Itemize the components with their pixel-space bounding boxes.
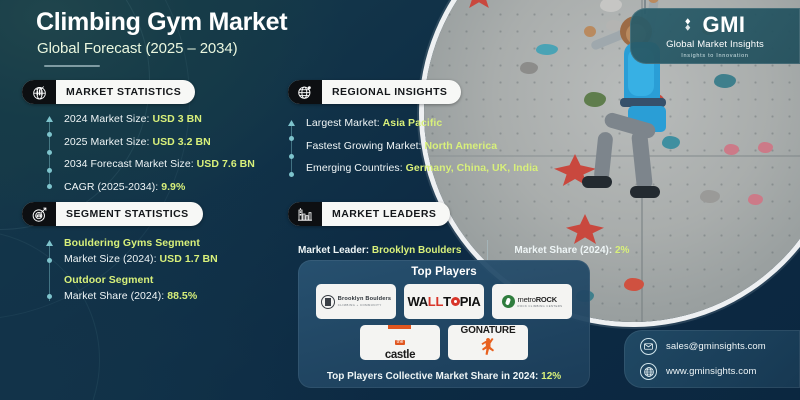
divider	[487, 240, 488, 260]
gonature-climber-icon	[477, 336, 499, 356]
brooklyn-boulders-mark-icon	[321, 295, 335, 309]
top-players-card: Top Players Brooklyn Boulders CLIMBING +…	[298, 260, 590, 388]
player-sub: ROCK CLIMBING CENTERS	[518, 305, 563, 308]
section-pill-market-statistics: MARKET STATISTICS	[22, 80, 195, 104]
connector-line	[288, 122, 295, 178]
top-players-title: Top Players	[298, 266, 590, 278]
stat-row: 2025 Market Size: USD 3.2 BN	[64, 137, 255, 148]
globe-chart-icon	[22, 80, 56, 104]
top-players-logo-row-2: the castle climbing centre GONATURE	[298, 325, 590, 360]
stat-row: Fastest Growing Market: North America	[306, 141, 538, 152]
gmi-logo-badge: GMI Global Market Insights Insights to I…	[630, 8, 800, 64]
bullseye-icon	[451, 297, 460, 306]
player-logo-brooklyn-boulders: Brooklyn Boulders CLIMBING + COMMUNITY	[316, 284, 396, 319]
market-statistics-list: 2024 Market Size: USD 3 BN 2025 Market S…	[46, 114, 255, 204]
contact-email-row[interactable]: sales@gminsights.com	[640, 338, 800, 355]
infographic-canvas: GMI Global Market Insights Insights to I…	[0, 0, 800, 400]
section-label: MARKET STATISTICS	[56, 86, 195, 98]
walltopia-wordmark: WALLTPIA	[407, 295, 480, 308]
top-players-logo-row-1: Brooklyn Boulders CLIMBING + COMMUNITY W…	[298, 284, 590, 319]
page-subtitle: Global Forecast (2025 – 2034)	[37, 40, 238, 57]
castle-icon	[386, 325, 414, 329]
stat-row: CAGR (2025-2034): 9.9%	[64, 182, 255, 193]
player-name: metroROCK	[518, 296, 563, 304]
connector-line	[46, 242, 53, 304]
player-logo-the-castle: the castle climbing centre	[360, 325, 440, 360]
section-label: REGIONAL INSIGHTS	[322, 86, 461, 98]
section-pill-segment-statistics: SEGMENT STATISTICS	[22, 202, 203, 226]
contact-email: sales@gminsights.com	[666, 341, 766, 352]
section-label: MARKET LEADERS	[322, 208, 450, 220]
connector-line	[46, 118, 53, 190]
section-pill-regional-insights: REGIONAL INSIGHTS	[288, 80, 461, 104]
stat-row: Market Size (2024): USD 1.7 BN	[64, 254, 218, 265]
player-logo-gonature: GONATURE	[448, 325, 528, 360]
market-leader: Market Leader: Brooklyn Boulders	[298, 245, 461, 256]
section-pill-market-leaders: MARKET LEADERS	[288, 202, 450, 226]
gmi-tagline: Insights to Innovation	[681, 53, 748, 59]
globe-icon	[640, 363, 657, 380]
title-divider	[44, 65, 100, 67]
player-name: Brooklyn Boulders	[338, 297, 391, 303]
regional-insights-list: Largest Market: Asia Pacific Fastest Gro…	[288, 118, 538, 186]
player-logo-metrorock: metroROCK ROCK CLIMBING CENTERS	[492, 284, 572, 319]
target-chart-icon	[22, 202, 56, 226]
contact-panel: sales@gminsights.com www.gminsights.com	[624, 330, 800, 388]
gmi-diamond-icon	[684, 17, 699, 32]
player-sub: CLIMBING + COMMUNITY	[338, 304, 391, 307]
section-label: SEGMENT STATISTICS	[56, 208, 203, 220]
segment-statistics-list: Bouldering Gyms Segment Market Size (202…	[46, 238, 218, 312]
segment-heading: Outdoor Segment	[64, 275, 218, 286]
metrorock-mark-icon	[502, 295, 515, 308]
stat-row: Emerging Countries: Germany, China, UK, …	[306, 163, 538, 174]
market-share: Market Share (2024): 2%	[514, 245, 629, 256]
gmi-full-name: Global Market Insights	[666, 39, 764, 50]
player-logo-walltopia: WALLTPIA	[404, 284, 484, 319]
globe-icon	[288, 80, 322, 104]
player-name: castle	[384, 350, 415, 360]
segment-heading: Bouldering Gyms Segment	[64, 238, 218, 249]
page-title: Climbing Gym Market	[36, 8, 287, 37]
stat-row: Largest Market: Asia Pacific	[306, 118, 538, 129]
gmi-name: GMI	[702, 14, 745, 36]
stat-row: Market Share (2024): 88.5%	[64, 291, 218, 302]
contact-website-row[interactable]: www.gminsights.com	[640, 363, 800, 380]
castle-the-label: the	[395, 340, 406, 345]
market-leader-row: Market Leader: Brooklyn Boulders Market …	[298, 240, 629, 260]
collective-share: Top Players Collective Market Share in 2…	[298, 371, 590, 382]
factory-chart-icon	[288, 202, 322, 226]
stat-row: 2034 Forecast Market Size: USD 7.6 BN	[64, 159, 255, 170]
contact-website: www.gminsights.com	[666, 366, 757, 377]
player-name: GONATURE	[461, 326, 516, 336]
stat-row: 2024 Market Size: USD 3 BN	[64, 114, 255, 125]
envelope-icon	[640, 338, 657, 355]
